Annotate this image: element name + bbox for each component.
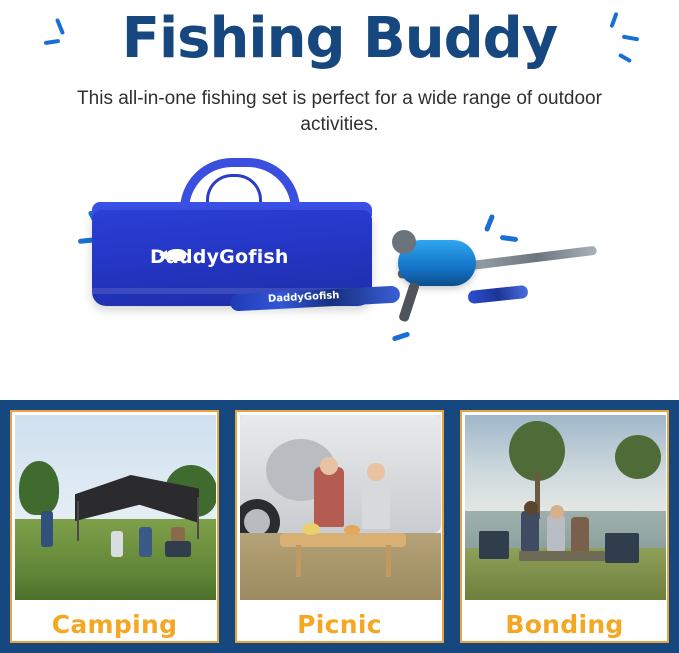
use-case-cards: Camping Picnic [0, 410, 679, 653]
splash-icon [484, 214, 495, 233]
person-head [550, 505, 564, 519]
person [521, 511, 539, 553]
bonding-photo [465, 415, 666, 600]
hero-subtitle: This all-in-one fishing set is perfect f… [70, 86, 609, 137]
camp-chair [479, 531, 509, 559]
person [139, 527, 152, 557]
product-image-section: DaddyGofish DaddyGofish [0, 152, 679, 400]
splash-icon [392, 331, 411, 341]
hero-section: Fishing Buddy This all-in-one fishing se… [0, 0, 679, 152]
camp-chair [165, 541, 191, 557]
tarp-pole [77, 501, 79, 541]
van-wheel-hub [244, 509, 270, 535]
person [547, 515, 565, 553]
tree [19, 461, 59, 515]
card-caption-picnic: Picnic [237, 610, 442, 639]
reel-knob [392, 230, 416, 254]
food-item [302, 523, 320, 535]
card-caption-camping: Camping [12, 610, 217, 639]
table-leg [386, 545, 391, 577]
person [362, 473, 390, 529]
person [314, 467, 344, 527]
reel-handle [398, 281, 420, 322]
tree [615, 435, 661, 479]
fishing-rod-tip [467, 285, 528, 304]
picnic-table [519, 551, 605, 561]
food-item [344, 525, 360, 535]
tree [509, 421, 565, 481]
use-case-card-picnic[interactable]: Picnic [235, 410, 444, 643]
card-caption-bonding: Bonding [462, 610, 667, 639]
bag-brand-label: DaddyGofish [150, 246, 340, 268]
section-divider [0, 400, 679, 410]
splash-icon [500, 235, 519, 242]
picnic-photo [240, 415, 441, 600]
use-case-card-camping[interactable]: Camping [10, 410, 219, 643]
page-title: Fishing Buddy [0, 8, 679, 70]
person-head [320, 457, 338, 475]
person-head [367, 463, 385, 481]
person-head [524, 501, 538, 515]
person [571, 517, 589, 553]
camp-chair [605, 533, 639, 563]
camping-photo [15, 415, 216, 600]
tarp-pole [197, 497, 199, 539]
use-case-card-bonding[interactable]: Bonding [460, 410, 669, 643]
person [111, 531, 123, 557]
table-leg [296, 545, 301, 577]
person [41, 511, 53, 547]
